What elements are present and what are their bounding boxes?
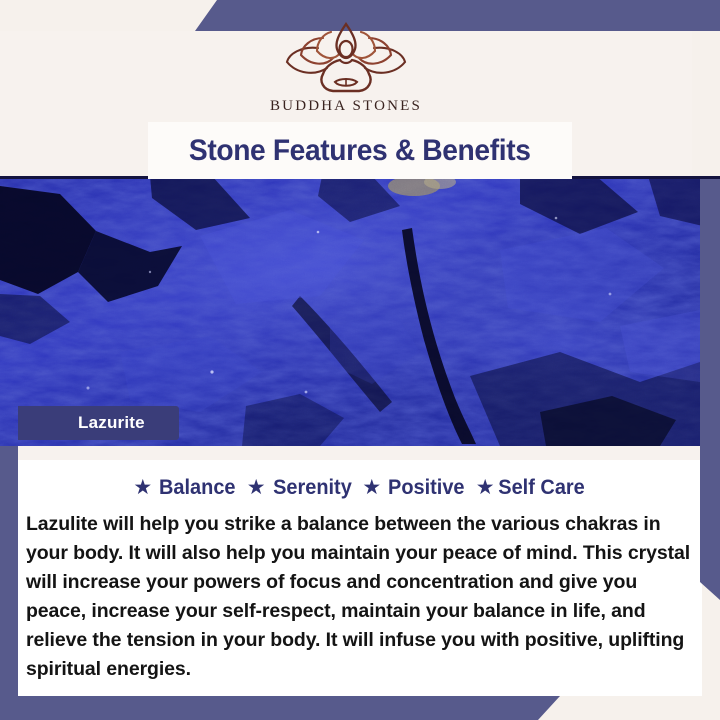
- description-paragraph: Lazulite will help you strike a balance …: [26, 510, 692, 684]
- benefit-item: ★ Serenity: [247, 476, 354, 500]
- star-icon: ★: [247, 477, 266, 498]
- benefits-row: ★ Balance ★ Serenity ★ Positive ★ Self C…: [18, 476, 702, 500]
- stone-name-tag: Lazurite: [18, 406, 179, 440]
- right-top-cream-margin: [692, 31, 720, 176]
- stone-info-poster: BUDDHA STONES: [0, 0, 720, 720]
- bottom-accent-band: [0, 696, 560, 720]
- title-banner: Stone Features & Benefits: [148, 122, 572, 179]
- star-icon: ★: [133, 477, 152, 498]
- stone-name: Lazurite: [78, 413, 145, 433]
- right-accent-rail: [700, 176, 720, 600]
- star-icon: ★: [362, 477, 381, 498]
- description-text-block: Lazulite will help you strike a balance …: [26, 510, 692, 684]
- benefit-label: Serenity: [273, 476, 352, 500]
- benefit-label: Self Care: [498, 476, 584, 500]
- benefit-item: ★ Balance: [133, 476, 237, 500]
- lotus-meditation-icon: [271, 22, 421, 94]
- brand-logo: BUDDHA STONES: [0, 22, 692, 115]
- brand-name: BUDDHA STONES: [270, 98, 422, 115]
- page-title: Stone Features & Benefits: [189, 134, 531, 168]
- benefit-label: Balance: [159, 476, 236, 500]
- benefit-item: ★ Positive: [362, 476, 466, 500]
- star-icon: ★: [476, 477, 495, 498]
- left-accent-rail: [0, 446, 18, 696]
- card-top-cream-strip: [18, 446, 702, 460]
- benefit-label: Positive: [388, 476, 465, 500]
- benefit-item: ★ Self Care: [476, 476, 587, 500]
